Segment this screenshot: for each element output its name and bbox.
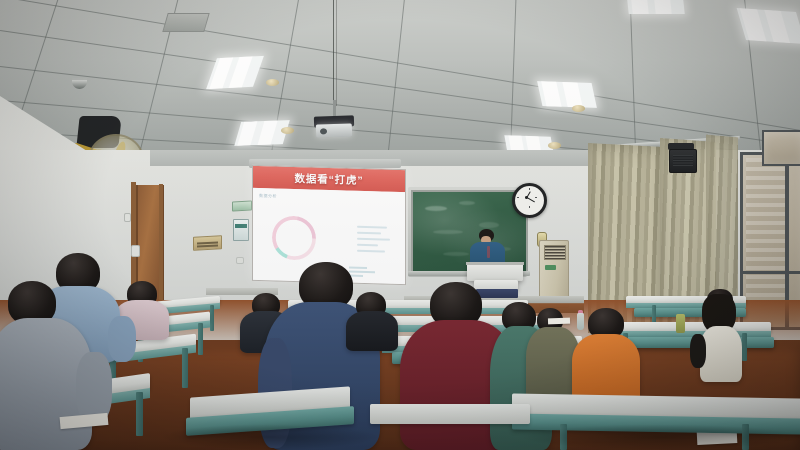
ceiling-light-panel	[234, 120, 289, 146]
slide-text-block	[355, 224, 395, 259]
desk-leg	[742, 333, 747, 361]
ceiling-wire	[336, 0, 337, 106]
classroom-photo: 数据看“打虎” 数据分析	[0, 0, 800, 450]
wall-label-green	[232, 200, 252, 211]
slide-legend	[349, 267, 393, 278]
presenter-lanyard	[487, 246, 490, 258]
front-desk-top	[370, 404, 530, 424]
slide-donut-chart	[272, 215, 316, 260]
ceiling-light-panel	[537, 81, 597, 108]
papers-on-desk[interactable]	[548, 318, 570, 325]
floor-shadow	[520, 424, 800, 450]
ceiling-air-vent	[162, 13, 209, 32]
desk-leg	[210, 305, 214, 331]
ceiling-light-panel	[627, 0, 684, 14]
smoke-detector-icon	[281, 127, 294, 134]
wall-plaque-wood	[193, 235, 222, 251]
water-bottle[interactable]	[577, 313, 584, 330]
analog-wall-clock	[512, 183, 547, 218]
wall-mounted-speaker	[669, 149, 697, 173]
wall-outlet[interactable]	[236, 257, 244, 264]
door-frame	[159, 184, 163, 304]
smoke-detector-icon	[548, 142, 561, 149]
smoke-detector-icon	[266, 79, 279, 86]
ceiling-wire	[333, 0, 334, 108]
ceiling-projector	[316, 123, 352, 137]
light-switch[interactable]	[131, 245, 140, 257]
lectern-lip	[466, 262, 524, 265]
window-upper-right	[762, 130, 800, 166]
floor-shadow	[160, 424, 380, 450]
desk-leg	[182, 348, 188, 388]
desk-leg	[136, 392, 143, 436]
wall-outlet[interactable]	[124, 213, 131, 222]
slide-subtitle-text: 数据分析	[259, 193, 277, 200]
thermos-cup[interactable]	[676, 314, 685, 333]
slide-title-text: 数据看“打虎”	[295, 171, 364, 188]
lectern-base	[476, 289, 518, 298]
desk-leg	[198, 323, 203, 355]
lectern-top	[467, 263, 523, 281]
smoke-detector-icon	[572, 105, 585, 112]
ceiling-light-panel	[737, 8, 800, 44]
wall-notice-sign	[233, 219, 249, 241]
